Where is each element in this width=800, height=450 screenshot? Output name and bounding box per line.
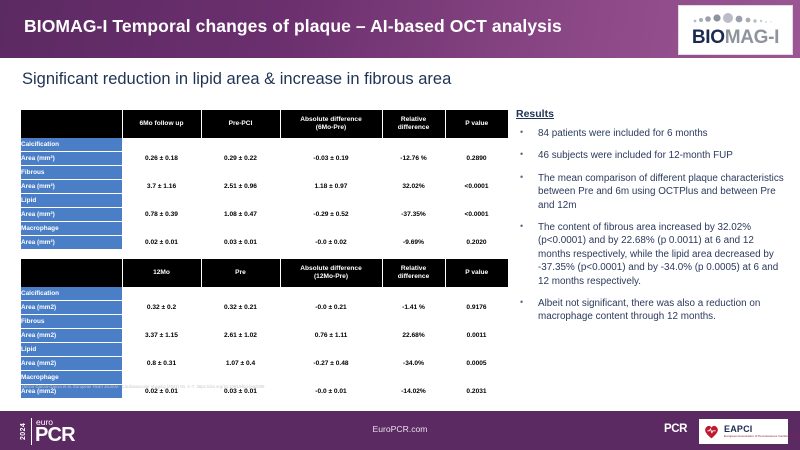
slide: BIOMAG-I Temporal changes of plaque – AI…	[0, 0, 800, 450]
table-12mo-r2-c2: 1.07 ± 0.4	[201, 357, 280, 371]
table-6mo-col-3-line1: Absolute difference	[300, 116, 362, 123]
table-12mo-r0-spacer	[122, 287, 508, 301]
table-6mo-r0-c4: -12.76 %	[382, 152, 445, 166]
table-12mo-col-3-line1: Absolute difference	[300, 265, 362, 272]
table-12mo-r1-c5: 0.0011	[445, 329, 508, 343]
results-panel: Results 84 patients were included for 6 …	[516, 108, 788, 333]
table-6mo-r2-c4: -37.35%	[382, 208, 445, 222]
table-12mo-r0-c2: 0.32 ± 0.21	[201, 301, 280, 315]
table-6mo-r1-c2: 2.51 ± 0.96	[201, 180, 280, 194]
table-6mo-r3-c1: 0.02 ± 0.01	[122, 236, 201, 250]
tables-container: 6Mo follow up Pre-PCI Absolute differenc…	[21, 110, 508, 399]
table-12mo-col-5: P value	[445, 259, 508, 287]
slide-footer: 2024 euro PCR EuroPCR.com PCR EAPCI Euro…	[0, 411, 800, 450]
table-6mo-r1-c5: <0.0001	[445, 180, 508, 194]
eapci-logo-text: EAPCI European Association of Percutaneo…	[724, 425, 800, 438]
table-6mo-col-3: Absolute difference (6Mo-Pre)	[280, 110, 382, 138]
table-6mo-r3-c5: 0.2020	[445, 236, 508, 250]
table-row: Lipid	[21, 343, 508, 357]
table-12mo: 12Mo Pre Absolute difference (12Mo-Pre) …	[21, 259, 508, 399]
table-12mo-r2-category: Lipid	[21, 343, 122, 357]
list-item: The mean comparison of different plaque …	[516, 172, 788, 212]
table-12mo-r3-spacer	[122, 371, 508, 385]
table-12mo-r0-c3: -0.0 ± 0.21	[280, 301, 382, 315]
table-6mo-r3-c2: 0.03 ± 0.01	[201, 236, 280, 250]
list-item: The content of fibrous area increased by…	[516, 221, 788, 288]
table-12mo-col-1: 12Mo	[122, 259, 201, 287]
table-6mo-r2-c3: -0.29 ± 0.52	[280, 208, 382, 222]
table-6mo-r0-spacer	[122, 138, 508, 152]
table-12mo-r1-category: Fibrous	[21, 315, 122, 329]
table-row: Lipid	[21, 194, 508, 208]
table-6mo-col-5: P value	[445, 110, 508, 138]
table-6mo-col-2: Pre-PCI	[201, 110, 280, 138]
table-12mo-col-3-line2: (12Mo-Pre)	[314, 273, 348, 280]
table-12mo-r0-c5: 0.9176	[445, 301, 508, 315]
table-6mo-r0-c5: 0.2890	[445, 152, 508, 166]
table-row: Area (mm2) 0.8 ± 0.31 1.07 ± 0.4 -0.27 ±…	[21, 357, 508, 371]
table-12mo-col-4-line1: Relative	[401, 265, 426, 272]
table-12mo-col-4-line2: difference	[398, 273, 430, 280]
tables-divider	[21, 250, 508, 259]
table-12mo-r1-c4: 22.68%	[382, 329, 445, 343]
table-12mo-r2-c5: 0.0005	[445, 357, 508, 371]
table-6mo-r2-c5: <0.0001	[445, 208, 508, 222]
table-row: Area (mm2) 0.32 ± 0.2 0.32 ± 0.21 -0.0 ±…	[21, 301, 508, 315]
table-12mo-r1-c2: 2.61 ± 1.02	[201, 329, 280, 343]
biomag-logo: BIOMAG-I	[678, 5, 793, 55]
table-6mo-r3-category: Macrophage	[21, 222, 122, 236]
table-row: Area (mm2) 3.37 ± 1.15 2.61 ± 1.02 0.76 …	[21, 329, 508, 343]
biomag-logo-bio: BIO	[692, 27, 725, 48]
table-6mo-r0-category: Calcification	[21, 138, 122, 152]
table-12mo-r1-c1: 3.37 ± 1.15	[122, 329, 201, 343]
table-12mo-r2-spacer	[122, 343, 508, 357]
table-row: Fibrous	[21, 315, 508, 329]
table-6mo-r0-c1: 0.26 ± 0.18	[122, 152, 201, 166]
table-6mo-col-4: Relative difference	[382, 110, 445, 138]
table-6mo-r0-metric: Area (mm²)	[21, 152, 122, 166]
table-row: Area (mm²) 0.26 ± 0.18 0.29 ± 0.22 -0.03…	[21, 152, 508, 166]
table-6mo-r1-spacer	[122, 166, 508, 180]
table-row: Area (mm²) 0.78 ± 0.39 1.08 ± 0.47 -0.29…	[21, 208, 508, 222]
biomag-logo-mag: MAG-I	[725, 27, 779, 48]
results-heading: Results	[516, 108, 788, 120]
table-row: Fibrous	[21, 166, 508, 180]
table-12mo-r2-c4: -34.0%	[382, 357, 445, 371]
table-6mo: 6Mo follow up Pre-PCI Absolute differenc…	[21, 110, 508, 250]
table-12mo-r1-spacer	[122, 315, 508, 329]
results-bullet-list: 84 patients were included for 6 months 4…	[516, 127, 788, 324]
source-citation: Hector Garcia-Garcia et al. European Hea…	[22, 384, 509, 389]
table-12mo-r0-category: Calcification	[21, 287, 122, 301]
table-6mo-r0-c2: 0.29 ± 0.22	[201, 152, 280, 166]
table-12mo-col-0	[21, 259, 122, 287]
table-12mo-r0-c1: 0.32 ± 0.2	[122, 301, 201, 315]
table-6mo-r2-metric: Area (mm²)	[21, 208, 122, 222]
table-6mo-r2-c1: 0.78 ± 0.39	[122, 208, 201, 222]
table-12mo-col-3: Absolute difference (12Mo-Pre)	[280, 259, 382, 287]
table-12mo-r1-metric: Area (mm2)	[21, 329, 122, 343]
table-6mo-col-4-line1: Relative	[401, 116, 426, 123]
table-12mo-r2-c3: -0.27 ± 0.48	[280, 357, 382, 371]
eapci-logo-subtitle: European Association of Percutaneous Car…	[724, 435, 800, 438]
table-6mo-r1-c1: 3.7 ± 1.16	[122, 180, 201, 194]
table-6mo-r3-metric: Area (mm²)	[21, 236, 122, 250]
table-6mo-col-1: 6Mo follow up	[122, 110, 201, 138]
table-12mo-header-row: 12Mo Pre Absolute difference (12Mo-Pre) …	[21, 259, 508, 287]
list-item: Albeit not significant, there was also a…	[516, 297, 788, 324]
list-item: 84 patients were included for 6 months	[516, 127, 788, 140]
slide-subtitle: Significant reduction in lipid area & in…	[22, 70, 451, 89]
table-6mo-r1-c3: 1.18 ± 0.97	[280, 180, 382, 194]
table-12mo-r0-metric: Area (mm2)	[21, 301, 122, 315]
table-6mo-r0-c3: -0.03 ± 0.19	[280, 152, 382, 166]
table-12mo-r1-c3: 0.76 ± 1.11	[280, 329, 382, 343]
table-12mo-r2-c1: 0.8 ± 0.31	[122, 357, 201, 371]
page-title: BIOMAG-I Temporal changes of plaque – AI…	[24, 16, 562, 37]
table-6mo-col-3-line2: (6Mo-Pre)	[316, 124, 346, 131]
table-12mo-r3-category: Macrophage	[21, 371, 122, 385]
biomag-logo-dots-icon	[679, 10, 792, 26]
table-6mo-r1-c4: 32.02%	[382, 180, 445, 194]
table-6mo-r3-spacer	[122, 222, 508, 236]
table-row: Macrophage	[21, 371, 508, 385]
table-6mo-header-row: 6Mo follow up Pre-PCI Absolute differenc…	[21, 110, 508, 138]
table-6mo-r1-metric: Area (mm²)	[21, 180, 122, 194]
table-row: Macrophage	[21, 222, 508, 236]
table-6mo-r3-c4: -9.69%	[382, 236, 445, 250]
slide-header: BIOMAG-I Temporal changes of plaque – AI…	[0, 0, 800, 58]
table-12mo-r2-metric: Area (mm2)	[21, 357, 122, 371]
list-item: 46 subjects were included for 12-month F…	[516, 149, 788, 162]
table-row: Calcification	[21, 287, 508, 301]
table-6mo-col-4-line2: difference	[398, 124, 430, 131]
table-6mo-r2-c2: 1.08 ± 0.47	[201, 208, 280, 222]
table-12mo-col-4: Relative difference	[382, 259, 445, 287]
table-row: Calcification	[21, 138, 508, 152]
table-12mo-r0-c4: -1.41 %	[382, 301, 445, 315]
table-12mo-col-2: Pre	[201, 259, 280, 287]
biomag-logo-text: BIOMAG-I	[692, 28, 779, 47]
pcr-mark: PCR	[664, 423, 687, 435]
heart-icon	[703, 424, 720, 439]
table-6mo-col-0	[21, 110, 122, 138]
table-row: Area (mm²) 3.7 ± 1.16 2.51 ± 0.96 1.18 ±…	[21, 180, 508, 194]
table-6mo-r2-spacer	[122, 194, 508, 208]
table-6mo-r3-c3: -0.0 ± 0.02	[280, 236, 382, 250]
eapci-logo: EAPCI European Association of Percutaneo…	[699, 419, 788, 444]
table-6mo-r2-category: Lipid	[21, 194, 122, 208]
table-6mo-r1-category: Fibrous	[21, 166, 122, 180]
table-row: Area (mm²) 0.02 ± 0.01 0.03 ± 0.01 -0.0 …	[21, 236, 508, 250]
